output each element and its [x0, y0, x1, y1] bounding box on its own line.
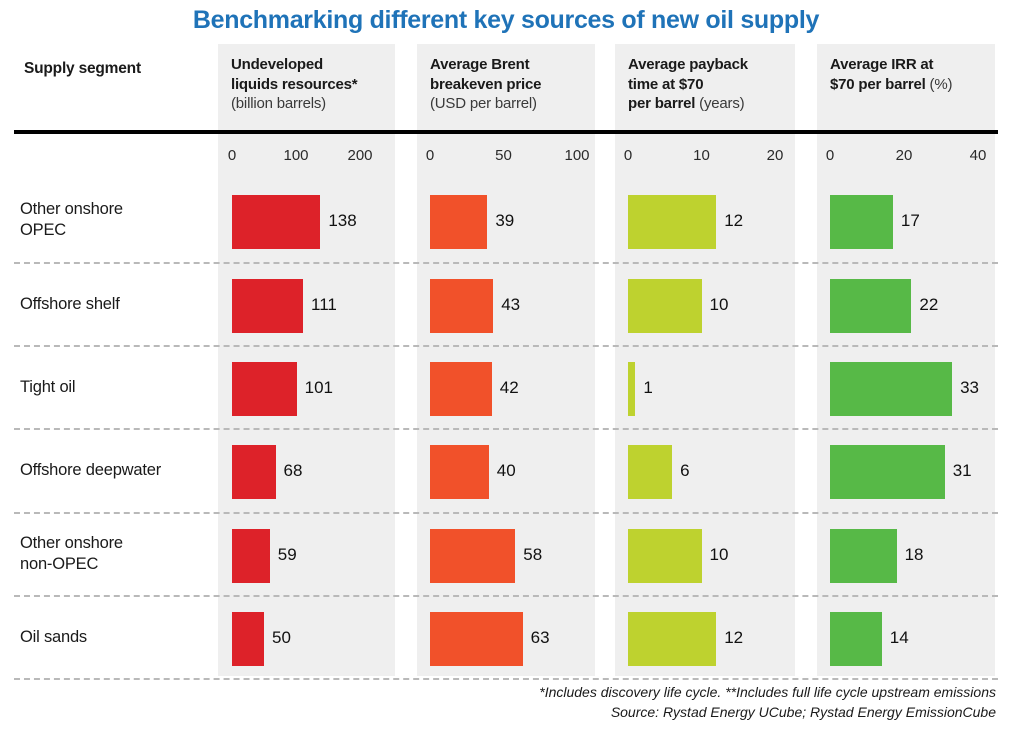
bar-value-average-payback-time: 12: [724, 628, 743, 648]
column-header-line: time at $70: [628, 75, 790, 95]
bar-value-average-brent-breakeven-price: 43: [501, 295, 520, 315]
row-separator: [14, 678, 998, 680]
row-label-line: Tight oil: [20, 377, 75, 398]
column-header-line: Undeveloped: [231, 55, 390, 75]
row-label: Oil sands: [20, 627, 87, 648]
bar-undeveloped-liquids-resources: [232, 362, 297, 416]
bar-value-average-brent-breakeven-price: 58: [523, 545, 542, 565]
row-label-line: Oil sands: [20, 627, 87, 648]
column-header-average-payback-time: Average paybacktime at $70per barrel (ye…: [628, 55, 790, 114]
row-separator: [14, 345, 998, 347]
row-separator: [14, 428, 998, 430]
row-label-line: OPEC: [20, 220, 123, 241]
bar-value-undeveloped-liquids-resources: 68: [284, 461, 303, 481]
bar-undeveloped-liquids-resources: [232, 195, 320, 249]
footnotes: *Includes discovery life cycle. **Includ…: [539, 682, 996, 722]
bar-undeveloped-liquids-resources: [232, 612, 264, 666]
tick-undeveloped-liquids-resources-100: 100: [283, 147, 308, 164]
footnote-source: Source: Rystad Energy UCube; Rystad Ener…: [539, 702, 996, 722]
tick-average-payback-time-0: 0: [624, 147, 632, 164]
column-header-unit: (USD per barrel): [430, 94, 590, 114]
column-header-line: Average payback: [628, 55, 790, 75]
bar-average-irr: [830, 362, 952, 416]
tick-average-irr-40: 40: [970, 147, 987, 164]
tick-average-irr-20: 20: [896, 147, 913, 164]
bar-undeveloped-liquids-resources: [232, 445, 276, 499]
bar-average-payback-time: [628, 195, 716, 249]
page-title: Benchmarking different key sources of ne…: [0, 6, 1012, 35]
bar-value-average-brent-breakeven-price: 42: [500, 378, 519, 398]
tick-average-payback-time-20: 20: [767, 147, 784, 164]
row-label-line: Offshore shelf: [20, 294, 120, 315]
bar-average-brent-breakeven-price: [430, 195, 487, 249]
column-header-line: liquids resources*: [231, 75, 390, 95]
bar-average-brent-breakeven-price: [430, 362, 492, 416]
bar-value-average-irr: 18: [905, 545, 924, 565]
column-header-unit: (%): [926, 76, 953, 93]
bar-average-irr: [830, 612, 882, 666]
column-header-average-irr: Average IRR at$70 per barrel (%): [830, 55, 990, 94]
row-label: Offshore shelf: [20, 294, 120, 315]
header-divider-rule: [14, 130, 998, 134]
bar-value-average-brent-breakeven-price: 40: [497, 461, 516, 481]
tick-undeveloped-liquids-resources-0: 0: [228, 147, 236, 164]
bar-average-payback-time: [628, 362, 635, 416]
bar-value-average-irr: 31: [953, 461, 972, 481]
bar-value-undeveloped-liquids-resources: 59: [278, 545, 297, 565]
column-header-line: $70 per barrel (%): [830, 75, 990, 95]
bar-value-undeveloped-liquids-resources: 111: [311, 295, 337, 315]
column-header-line: per barrel (years): [628, 94, 790, 114]
bar-undeveloped-liquids-resources: [232, 529, 270, 583]
bar-value-undeveloped-liquids-resources: 101: [305, 378, 333, 398]
bar-value-undeveloped-liquids-resources: 138: [328, 211, 356, 231]
row-separator: [14, 512, 998, 514]
tick-average-irr-0: 0: [826, 147, 834, 164]
row-label-line: Other onshore: [20, 199, 123, 220]
bar-average-payback-time: [628, 445, 672, 499]
bar-average-irr: [830, 279, 911, 333]
row-separator: [14, 262, 998, 264]
bar-value-average-irr: 14: [890, 628, 909, 648]
bar-value-average-brent-breakeven-price: 39: [495, 211, 514, 231]
bar-average-payback-time: [628, 529, 702, 583]
column-header-average-brent-breakeven-price: Average Brentbreakeven price(USD per bar…: [430, 55, 590, 114]
column-header-line: $70 per barrel: [830, 76, 926, 93]
bar-value-average-irr: 17: [901, 211, 920, 231]
bar-average-irr: [830, 195, 893, 249]
row-label-line: Offshore deepwater: [20, 460, 161, 481]
column-header-unit: (billion barrels): [231, 94, 390, 114]
column-header-line: breakeven price: [430, 75, 590, 95]
bar-value-average-irr: 33: [960, 378, 979, 398]
bar-value-undeveloped-liquids-resources: 50: [272, 628, 291, 648]
row-label: Other onshorenon-OPEC: [20, 533, 123, 575]
row-label: Other onshoreOPEC: [20, 199, 123, 241]
column-header-unit: (years): [695, 95, 744, 112]
tick-undeveloped-liquids-resources-200: 200: [347, 147, 372, 164]
bar-value-average-brent-breakeven-price: 63: [531, 628, 550, 648]
bar-value-average-payback-time: 10: [710, 295, 729, 315]
tick-average-brent-breakeven-price-0: 0: [426, 147, 434, 164]
column-header-line: Average Brent: [430, 55, 590, 75]
column-header-line: Average IRR at: [830, 55, 990, 75]
column-header-line: per barrel: [628, 95, 695, 112]
bar-value-average-payback-time: 10: [710, 545, 729, 565]
bar-average-brent-breakeven-price: [430, 529, 515, 583]
bar-undeveloped-liquids-resources: [232, 279, 303, 333]
supply-segment-column-header: Supply segment: [24, 60, 141, 78]
row-label: Tight oil: [20, 377, 75, 398]
bar-average-irr: [830, 445, 945, 499]
column-header-undeveloped-liquids-resources: Undevelopedliquids resources*(billion ba…: [231, 55, 390, 114]
tick-average-brent-breakeven-price-50: 50: [495, 147, 512, 164]
tick-average-payback-time-10: 10: [693, 147, 710, 164]
bar-value-average-payback-time: 12: [724, 211, 743, 231]
row-label-line: non-OPEC: [20, 554, 123, 575]
bar-value-average-payback-time: 1: [643, 378, 652, 398]
row-label-line: Other onshore: [20, 533, 123, 554]
row-label: Offshore deepwater: [20, 460, 161, 481]
row-separator: [14, 595, 998, 597]
bar-average-payback-time: [628, 279, 702, 333]
bar-value-average-payback-time: 6: [680, 461, 689, 481]
tick-average-brent-breakeven-price-100: 100: [564, 147, 589, 164]
bar-value-average-irr: 22: [919, 295, 938, 315]
bar-average-brent-breakeven-price: [430, 445, 489, 499]
bar-average-irr: [830, 529, 897, 583]
bar-average-brent-breakeven-price: [430, 279, 493, 333]
bar-average-brent-breakeven-price: [430, 612, 523, 666]
footnote-includes: *Includes discovery life cycle. **Includ…: [539, 682, 996, 702]
bar-average-payback-time: [628, 612, 716, 666]
